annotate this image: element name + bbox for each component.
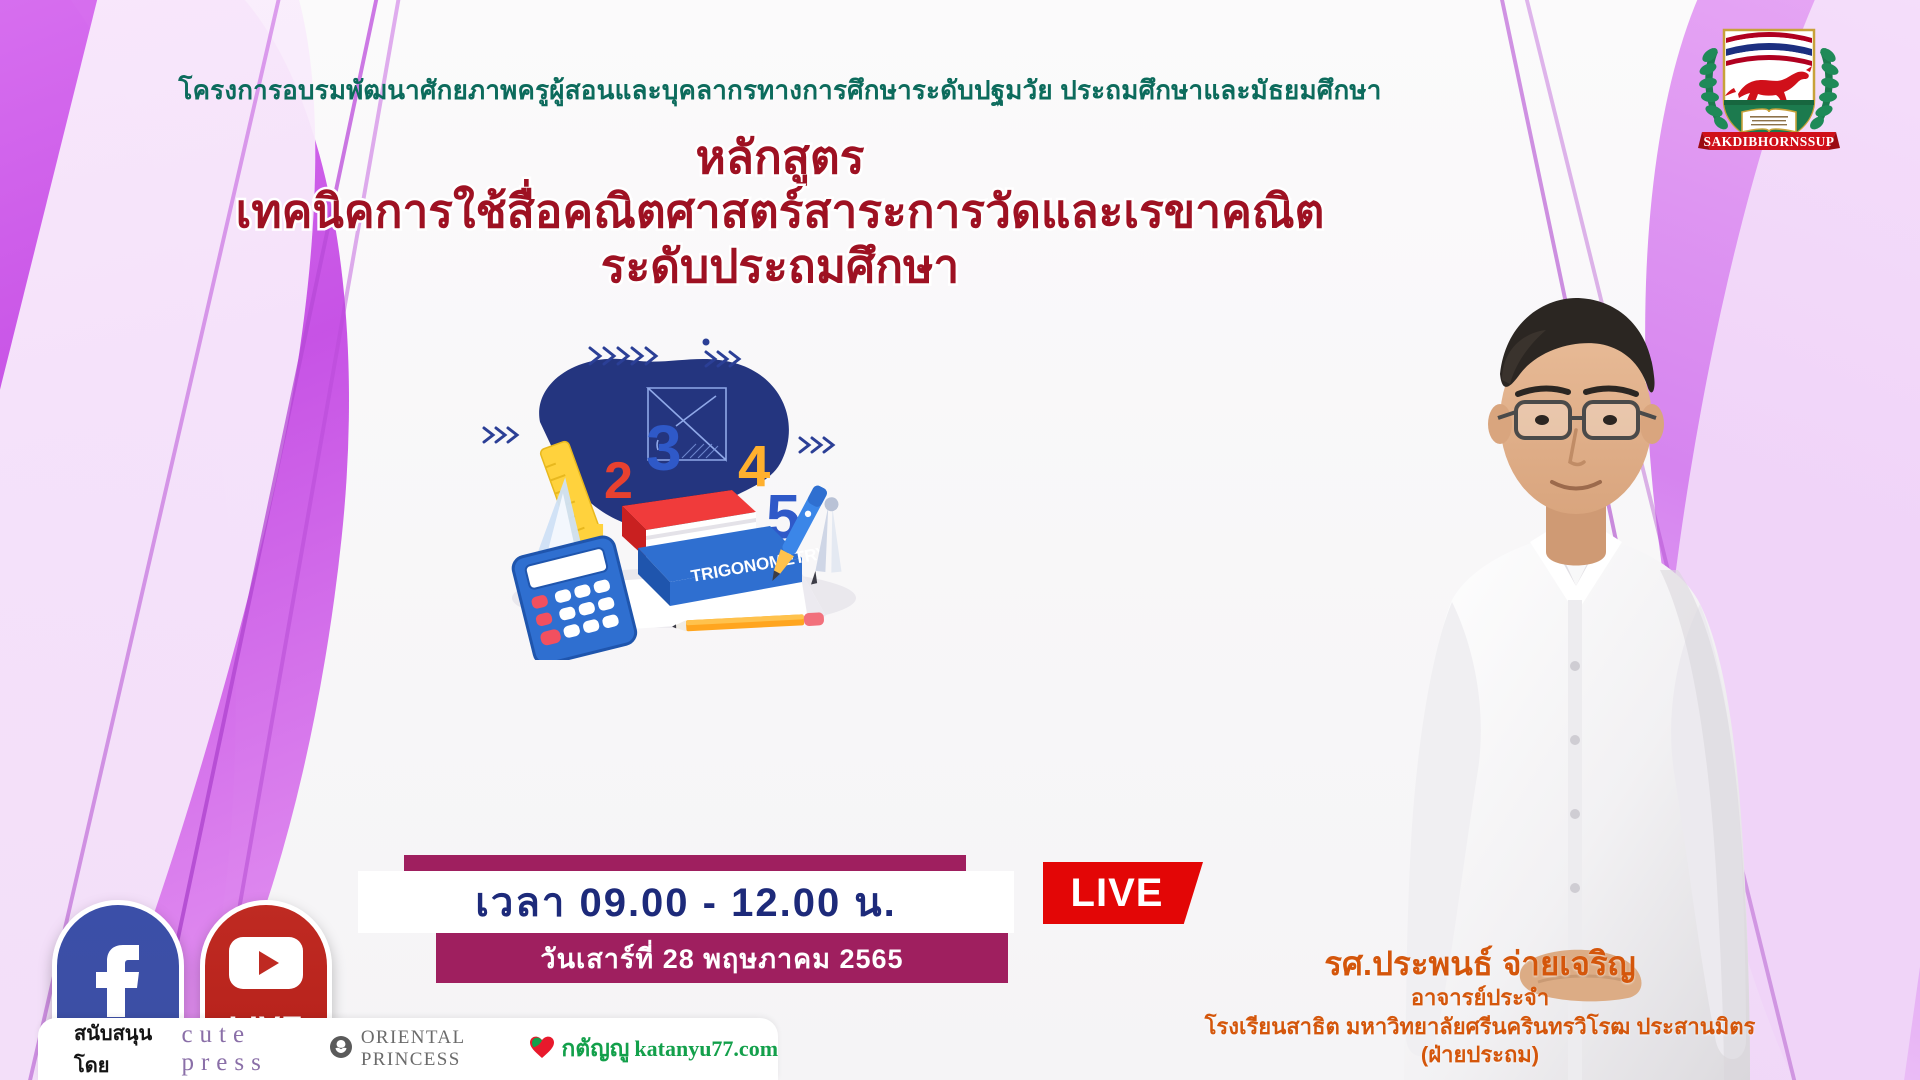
schedule-banner: เวลา 09.00 - 12.00 น. วันเสาร์ที่ 28 พฤษ… — [404, 855, 1004, 985]
oriental-princess-text: ORIENTAL PRINCESS — [361, 1027, 503, 1071]
katanyu-heart-icon — [528, 1034, 556, 1065]
time-text: เวลา 09.00 - 12.00 น. — [475, 870, 897, 934]
katanyu-domain-text: katanyu77.com — [634, 1036, 778, 1062]
illustration-number-3: 3 — [646, 412, 682, 484]
speaker-info: รศ.ประพนธ์ จ่ายเจริญ อาจารย์ประจำ โรงเรี… — [1100, 943, 1860, 1070]
facebook-icon — [87, 931, 149, 1022]
sponsor-cute-press: cute press — [181, 1021, 302, 1077]
poster-canvas: SAKDIBHORNSSUP โครงการอบรมพัฒนาศักยภาพคร… — [0, 0, 1920, 1080]
live-badge-label: LIVE — [1071, 871, 1164, 916]
date-text: วันเสาร์ที่ 28 พฤษภาคม 2565 — [540, 937, 903, 980]
school-crest-logo: SAKDIBHORNSSUP — [1694, 8, 1844, 158]
banner-top-bar — [404, 855, 966, 871]
title-line-1: หลักสูตร — [0, 130, 1560, 184]
program-header-text: โครงการอบรมพัฒนาศักยภาพครูผู้สอนและบุคลา… — [0, 70, 1560, 111]
sponsor-oriental-princess: ORIENTAL PRINCESS — [329, 1027, 503, 1071]
crest-ribbon-text: SAKDIBHORNSSUP — [1704, 134, 1835, 149]
math-illustration: 3 2 1 4 5 6 TRIGONOMETRY — [470, 330, 900, 660]
speaker-department: (ฝ่ายประถม) — [1100, 1041, 1860, 1070]
time-strip: เวลา 09.00 - 12.00 น. — [358, 871, 1014, 933]
speaker-name: รศ.ประพนธ์ จ่ายเจริญ — [1100, 943, 1860, 984]
katanyu-thai-text: กตัญญู — [561, 1031, 629, 1067]
speaker-role: อาจารย์ประจำ — [1100, 984, 1860, 1013]
course-title-block: หลักสูตร เทคนิคการใช้สื่อคณิตศาสตร์สาระก… — [0, 130, 1560, 293]
title-line-3: ระดับประถมศึกษา — [0, 239, 1560, 293]
sponsor-katanyu: กตัญญู katanyu77.com — [528, 1031, 778, 1067]
date-bar: วันเสาร์ที่ 28 พฤษภาคม 2565 — [436, 933, 1008, 983]
sponsor-prefix: สนับสนุนโดย — [74, 1017, 155, 1080]
sponsor-bar: สนับสนุนโดย cute press ORIENTAL PRINCESS… — [38, 1018, 778, 1080]
title-line-2: เทคนิคการใช้สื่อคณิตศาสตร์สาระการวัดและเ… — [0, 184, 1560, 238]
youtube-icon — [225, 931, 307, 998]
illustration-number-2: 2 — [604, 452, 633, 510]
oriental-princess-icon — [329, 1035, 353, 1064]
live-badge: LIVE — [1043, 862, 1203, 924]
speaker-organization: โรงเรียนสาธิต มหาวิทยาลัยศรีนครินทรวิโรฒ… — [1100, 1013, 1860, 1042]
